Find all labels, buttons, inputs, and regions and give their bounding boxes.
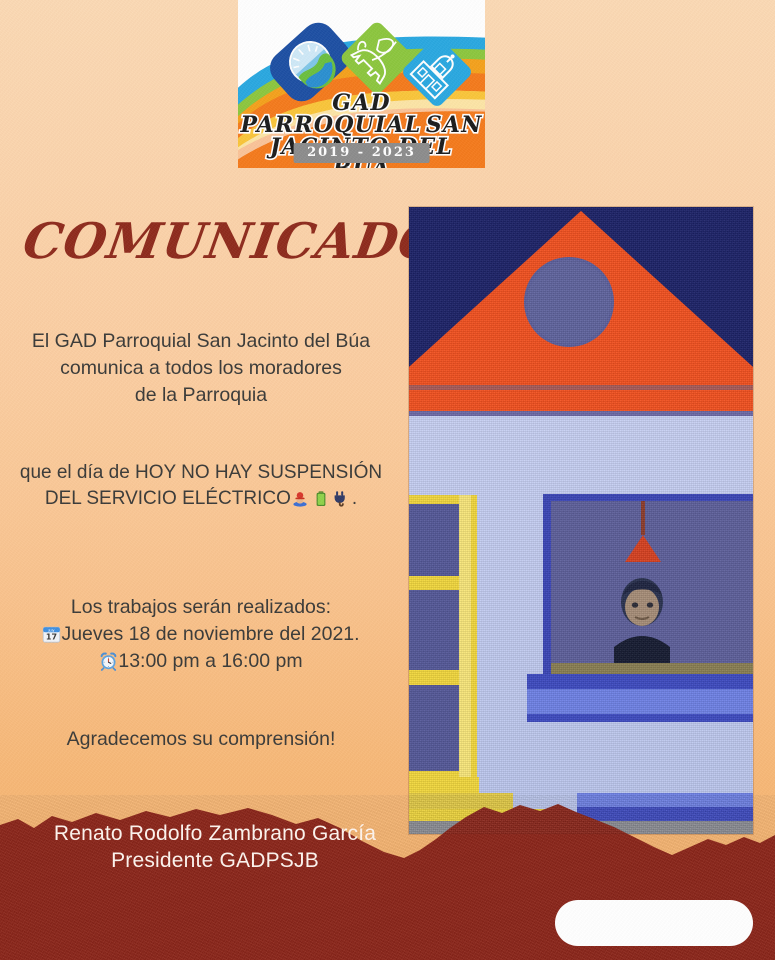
gad-logo-card: GAD PARROQUIAL SAN JACINTO DEL BÚA 2019 … bbox=[238, 0, 485, 168]
blank-label-pill[interactable] bbox=[555, 900, 753, 946]
schedule-heading: Los trabajos serán realizados: bbox=[8, 594, 394, 621]
page-title: COMUNICADO bbox=[19, 212, 388, 270]
house-photo bbox=[409, 207, 753, 834]
thanks-line: Agradecemos su comprensión! bbox=[8, 726, 394, 753]
alarm-clock-icon bbox=[99, 652, 118, 671]
intro-paragraph: El GAD Parroquial San Jacinto del Búa co… bbox=[8, 328, 394, 409]
comunicado-poster: GAD PARROQUIAL SAN JACINTO DEL BÚA 2019 … bbox=[0, 0, 775, 960]
intro-line-1: El GAD Parroquial San Jacinto del Búa bbox=[8, 328, 394, 355]
house-illustration bbox=[409, 207, 753, 834]
battery-icon bbox=[314, 490, 328, 508]
notice-paragraph: que el día de HOY NO HAY SUSPENSIÓN DEL … bbox=[8, 460, 394, 512]
svg-text:17: 17 bbox=[46, 633, 57, 642]
schedule-date-text: Jueves 18 de noviembre del 2021. bbox=[61, 623, 359, 645]
electric-plug-icon bbox=[333, 490, 352, 508]
schedule-time-line: 13:00 pm a 16:00 pm bbox=[8, 648, 394, 675]
schedule-time-text: 13:00 pm a 16:00 pm bbox=[118, 650, 302, 672]
construction-worker-icon bbox=[291, 490, 309, 508]
intro-line-2: comunica a todos los moradores bbox=[8, 355, 394, 382]
logo-years-badge: 2019 - 2023 bbox=[293, 143, 430, 163]
intro-line-3: de la Parroquia bbox=[8, 382, 394, 409]
signature-block: Renato Rodolfo Zambrano García President… bbox=[0, 821, 430, 875]
notice-line-2-text: DEL SERVICIO ELÉCTRICO bbox=[45, 488, 291, 509]
president-name: Renato Rodolfo Zambrano García bbox=[0, 821, 430, 848]
president-role: Presidente GADPSJB bbox=[0, 848, 430, 875]
schedule-date-line: July 17 Jueves 18 de noviembre del 2021. bbox=[8, 621, 394, 648]
footer-band: Renato Rodolfo Zambrano García President… bbox=[0, 795, 775, 960]
notice-line-1: que el día de HOY NO HAY SUSPENSIÓN bbox=[8, 460, 394, 486]
notice-trailing-period: . bbox=[352, 488, 357, 509]
calendar-icon: July 17 bbox=[42, 625, 61, 644]
notice-line-2: DEL SERVICIO ELÉCTRICO . bbox=[8, 486, 394, 512]
schedule-paragraph: Los trabajos serán realizados: July 17 J… bbox=[8, 594, 394, 675]
logo-line-1: GAD PARROQUIAL bbox=[240, 90, 421, 138]
thanks-paragraph: Agradecemos su comprensión! bbox=[8, 726, 394, 753]
